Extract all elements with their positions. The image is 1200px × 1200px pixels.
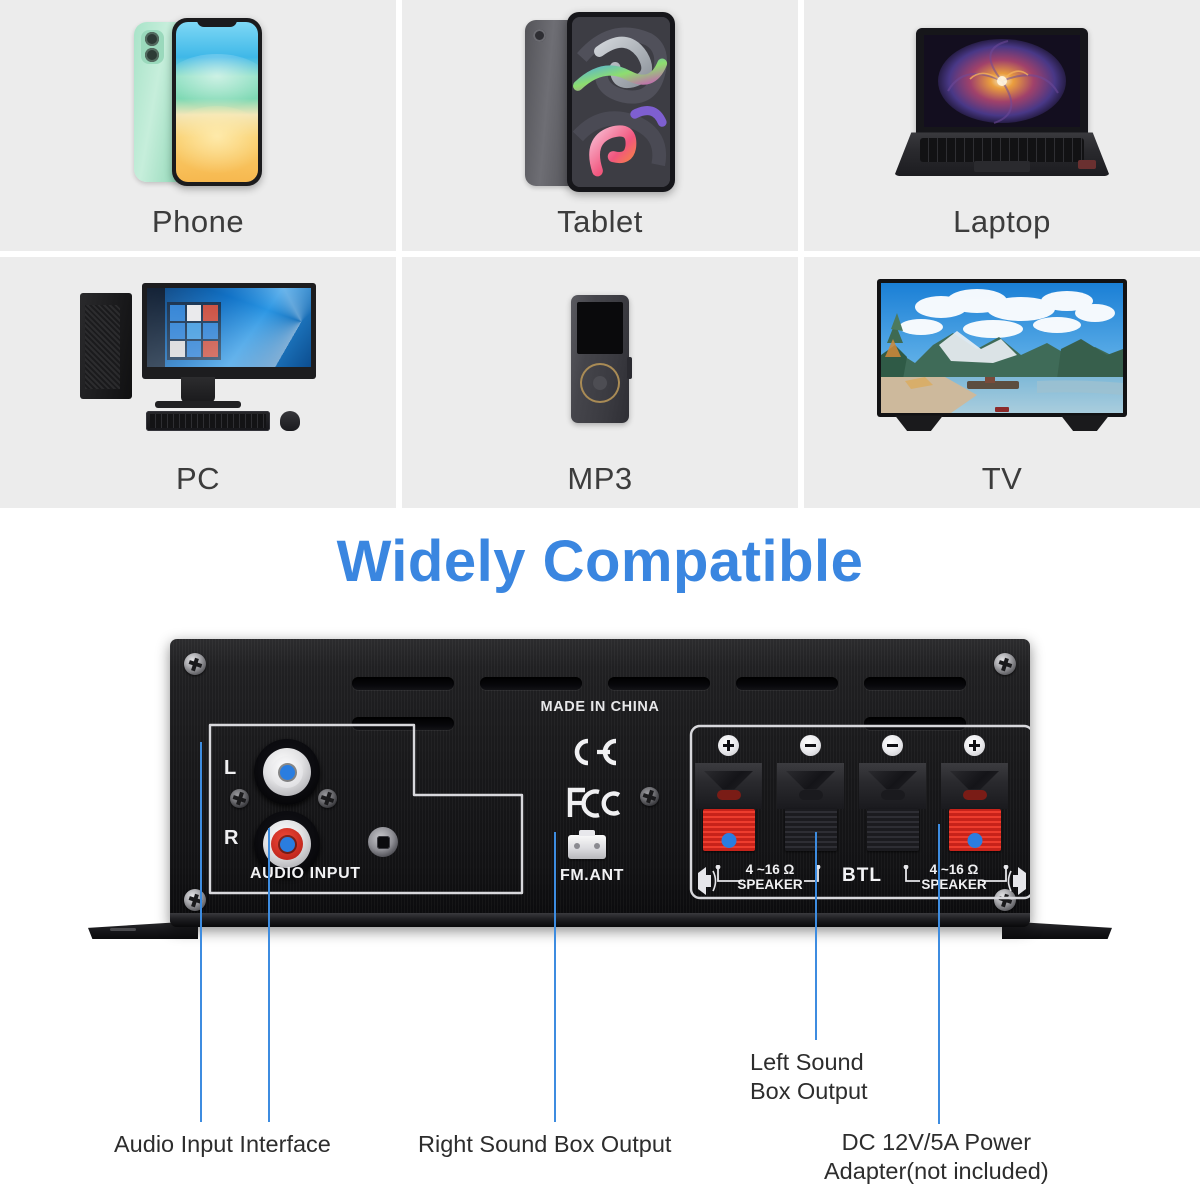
audio-input-group: L R AUDIO INPUT [202, 715, 530, 903]
panel-screw [640, 787, 659, 806]
chassis-screw-top-left [184, 653, 206, 675]
callout-audio-input: Audio Input Interface [114, 1130, 331, 1159]
compat-label-laptop: Laptop [953, 205, 1051, 243]
polarity-plus-icon [718, 735, 739, 756]
callout-line-right-sound-box [554, 832, 556, 1122]
ce-mark-icon [566, 737, 622, 772]
fm-antenna-plug-icon[interactable] [568, 835, 606, 859]
compat-cell-mp3: MP3 [402, 257, 798, 508]
callout-right-sound-box: Right Sound Box Output [418, 1130, 671, 1159]
fcc-mark-icon [566, 787, 622, 824]
right-channel-label: R [224, 827, 238, 850]
audio-input-group-label: AUDIO INPUT [250, 865, 361, 883]
polarity-minus-icon [882, 735, 903, 756]
speaker-terminal-left-positive[interactable] [941, 763, 1008, 859]
fm-antenna-label: FM.ANT [560, 867, 624, 885]
speaker-rating-left: 4 ~16 Ω SPEAKER [908, 863, 1000, 893]
compat-label-tv: TV [982, 462, 1023, 500]
vent-slot [480, 677, 582, 690]
page-title: Widely Compatible [0, 528, 1200, 595]
callout-line-left-sound-box [815, 832, 817, 1040]
desktop-computer-icon [0, 257, 396, 462]
compat-label-mp3: MP3 [567, 462, 632, 500]
panel-screw [230, 789, 249, 808]
callout-line-audio-input-left [200, 742, 202, 1122]
speaker-terminal-group: 4 ~16 Ω SPEAKER BTL 4 ~16 Ω SPEAKER [688, 723, 1030, 901]
left-channel-label: L [224, 757, 236, 780]
speaker-rating-right: 4 ~16 Ω SPEAKER [724, 863, 816, 893]
vent-slot [352, 677, 454, 690]
rca-jack-left-white-icon[interactable] [254, 739, 320, 805]
compat-label-tablet: Tablet [557, 205, 643, 243]
btl-label: BTL [842, 865, 882, 887]
speaker-terminal-right-positive[interactable] [695, 763, 762, 859]
laptop-icon [804, 0, 1200, 205]
compat-label-pc: PC [176, 462, 220, 500]
polarity-minus-icon [800, 735, 821, 756]
vent-slot [608, 677, 710, 690]
speaker-terminal-left-negative[interactable] [859, 763, 926, 859]
made-in-label: MADE IN CHINA [170, 699, 1030, 715]
aux-jack-icon[interactable] [368, 827, 398, 857]
compat-cell-pc: PC [0, 257, 396, 508]
compat-label-phone: Phone [152, 205, 244, 243]
speaker-terminal-right-negative[interactable] [777, 763, 844, 859]
tablet-icon [402, 0, 798, 205]
mp3-player-icon [402, 257, 798, 462]
compat-cell-laptop: Laptop [804, 0, 1200, 251]
callout-left-sound-box: Left Sound Box Output [750, 1048, 868, 1106]
callout-power-adapter: DC 12V/5A Power Adapter(not included) [824, 1128, 1049, 1186]
polarity-plus-icon [964, 735, 985, 756]
vent-slot [864, 677, 966, 690]
panel-screw [318, 789, 337, 808]
callout-line-audio-input-right [268, 828, 270, 1122]
compat-cell-tv: TV [804, 257, 1200, 508]
smartphone-icon [0, 0, 396, 205]
amplifier-rear-panel: MADE IN CHINA L R AUDIO INPUT [0, 625, 1200, 955]
chassis-screw-top-right [994, 653, 1016, 675]
amplifier-chassis: MADE IN CHINA L R AUDIO INPUT [170, 639, 1030, 927]
compatibility-grid: Phone [0, 0, 1200, 508]
callout-line-power-adapter [938, 824, 940, 1124]
television-icon [804, 257, 1200, 462]
compat-cell-phone: Phone [0, 0, 396, 251]
compat-cell-tablet: Tablet [402, 0, 798, 251]
vent-slot [736, 677, 838, 690]
